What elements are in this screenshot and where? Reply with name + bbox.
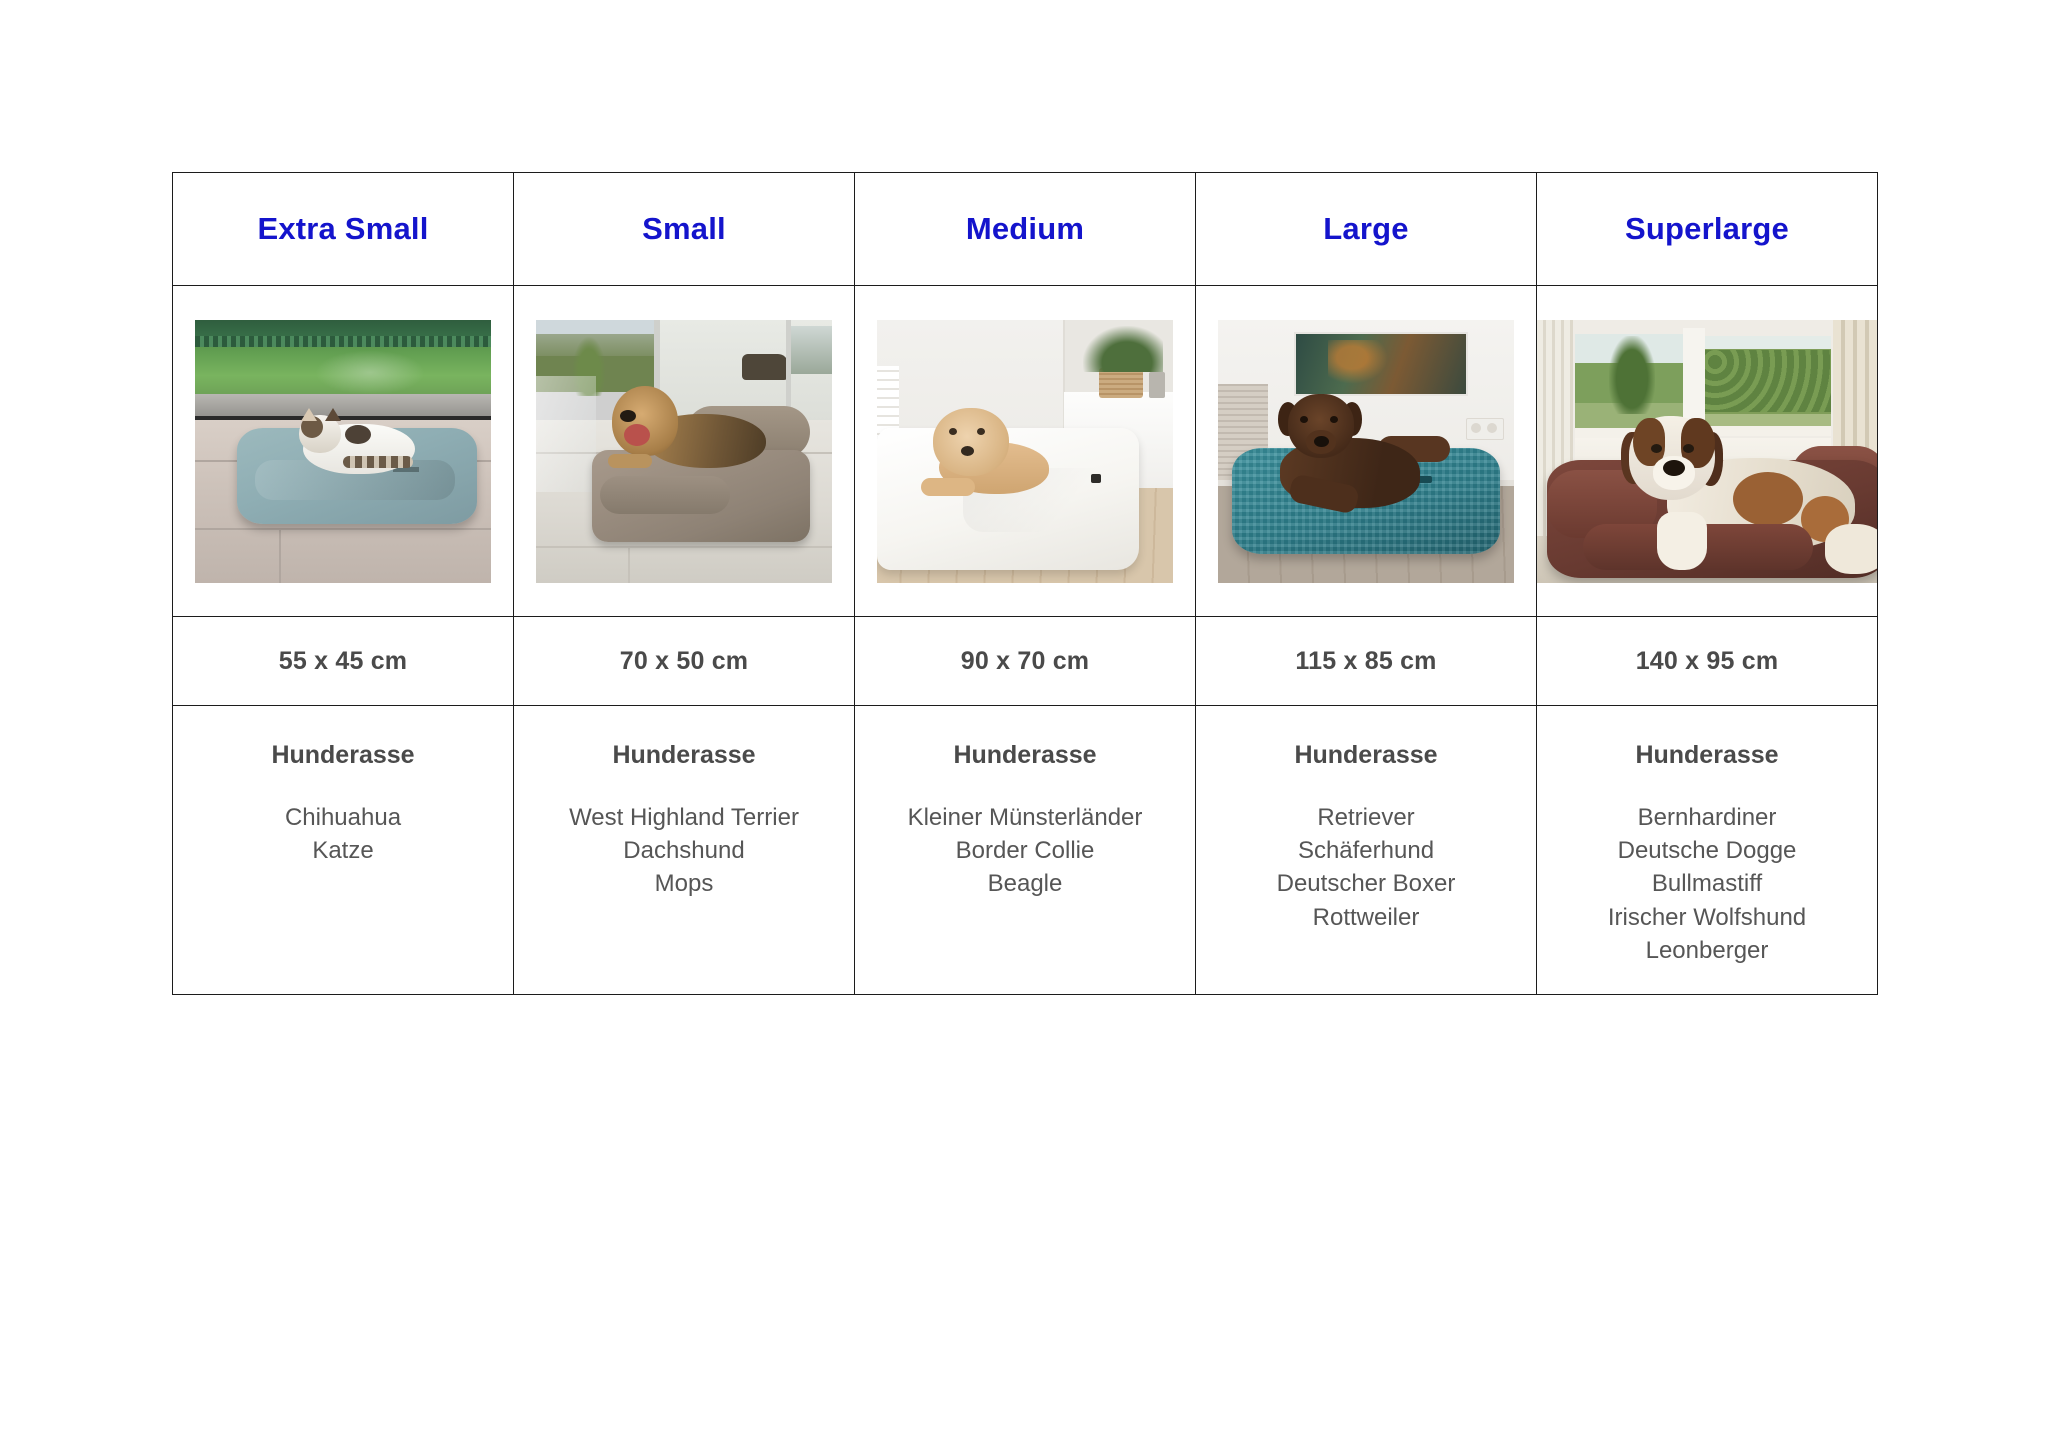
table-photo-row [173, 286, 1878, 617]
breed-item: Katze [173, 834, 513, 867]
header-cell-medium: Medium [855, 173, 1196, 286]
breeds-list-extra-small: ChihuahuaKatze [173, 801, 513, 867]
header-cell-extra-small: Extra Small [173, 173, 514, 286]
photo-cell-superlarge [1537, 286, 1878, 617]
photo-wrapper-superlarge [1537, 320, 1877, 583]
breeds-title-medium: Hunderasse [855, 740, 1195, 771]
breed-item: Border Collie [855, 834, 1195, 867]
photo-wrapper-medium [855, 320, 1195, 583]
breeds-list-large: RetrieverSchäferhundDeutscher BoxerRottw… [1196, 801, 1536, 933]
breeds-cell-superlarge: Hunderasse BernhardinerDeutsche DoggeBul… [1537, 706, 1878, 995]
product-photo-superlarge [1537, 320, 1877, 583]
dimensions-extra-small: 55 x 45 cm [173, 647, 513, 676]
breed-item: Irischer Wolfshund [1537, 901, 1877, 934]
dimensions-small: 70 x 50 cm [514, 647, 854, 676]
breed-item: Dachshund [514, 834, 854, 867]
breed-item: Deutscher Boxer [1196, 867, 1536, 900]
breeds-title-large: Hunderasse [1196, 740, 1536, 771]
breeds-title-superlarge: Hunderasse [1537, 740, 1877, 771]
size-name-small: Small [514, 212, 854, 246]
photo-cell-extra-small [173, 286, 514, 617]
photo-cell-medium [855, 286, 1196, 617]
dimensions-superlarge: 140 x 95 cm [1537, 647, 1877, 676]
breed-item: Bullmastiff [1537, 867, 1877, 900]
dog-bed-size-table: Extra Small Small Medium Large Superlarg… [172, 172, 1878, 995]
product-photo-medium [877, 320, 1173, 583]
header-cell-superlarge: Superlarge [1537, 173, 1878, 286]
table-dimensions-row: 55 x 45 cm 70 x 50 cm 90 x 70 cm 115 x 8… [173, 617, 1878, 706]
size-name-extra-small: Extra Small [173, 212, 513, 246]
header-cell-large: Large [1196, 173, 1537, 286]
product-photo-extra-small [195, 320, 491, 583]
breeds-cell-large: Hunderasse RetrieverSchäferhundDeutscher… [1196, 706, 1537, 995]
breed-item: Beagle [855, 867, 1195, 900]
dimensions-large: 115 x 85 cm [1196, 647, 1536, 676]
breeds-cell-medium: Hunderasse Kleiner MünsterländerBorder C… [855, 706, 1196, 995]
product-photo-small [536, 320, 832, 583]
breeds-cell-small: Hunderasse West Highland TerrierDachshun… [514, 706, 855, 995]
dimensions-medium: 90 x 70 cm [855, 647, 1195, 676]
breed-item: Schäferhund [1196, 834, 1536, 867]
header-cell-small: Small [514, 173, 855, 286]
size-name-superlarge: Superlarge [1537, 212, 1877, 246]
breed-item: Chihuahua [173, 801, 513, 834]
size-name-large: Large [1196, 212, 1536, 246]
photo-wrapper-small [514, 320, 854, 583]
breeds-title-extra-small: Hunderasse [173, 740, 513, 771]
photo-cell-small [514, 286, 855, 617]
breed-item: Bernhardiner [1537, 801, 1877, 834]
breeds-title-small: Hunderasse [514, 740, 854, 771]
breed-item: Leonberger [1537, 934, 1877, 967]
breed-item: West Highland Terrier [514, 801, 854, 834]
size-name-medium: Medium [855, 212, 1195, 246]
breed-item: Deutsche Dogge [1537, 834, 1877, 867]
dimensions-cell-superlarge: 140 x 95 cm [1537, 617, 1878, 706]
breed-item: Mops [514, 867, 854, 900]
breed-item: Kleiner Münsterländer [855, 801, 1195, 834]
breed-item: Rottweiler [1196, 901, 1536, 934]
photo-wrapper-extra-small [173, 320, 513, 583]
breeds-list-medium: Kleiner MünsterländerBorder CollieBeagle [855, 801, 1195, 900]
breeds-list-superlarge: BernhardinerDeutsche DoggeBullmastiffIri… [1537, 801, 1877, 967]
dimensions-cell-large: 115 x 85 cm [1196, 617, 1537, 706]
dimensions-cell-small: 70 x 50 cm [514, 617, 855, 706]
breeds-list-small: West Highland TerrierDachshundMops [514, 801, 854, 900]
table-header-row: Extra Small Small Medium Large Superlarg… [173, 173, 1878, 286]
photo-cell-large [1196, 286, 1537, 617]
table-breeds-row: Hunderasse ChihuahuaKatze Hunderasse Wes… [173, 706, 1878, 995]
page-canvas: Extra Small Small Medium Large Superlarg… [0, 0, 2048, 1448]
breeds-cell-extra-small: Hunderasse ChihuahuaKatze [173, 706, 514, 995]
dimensions-cell-medium: 90 x 70 cm [855, 617, 1196, 706]
product-photo-large [1218, 320, 1514, 583]
breed-item: Retriever [1196, 801, 1536, 834]
photo-wrapper-large [1196, 320, 1536, 583]
dimensions-cell-extra-small: 55 x 45 cm [173, 617, 514, 706]
